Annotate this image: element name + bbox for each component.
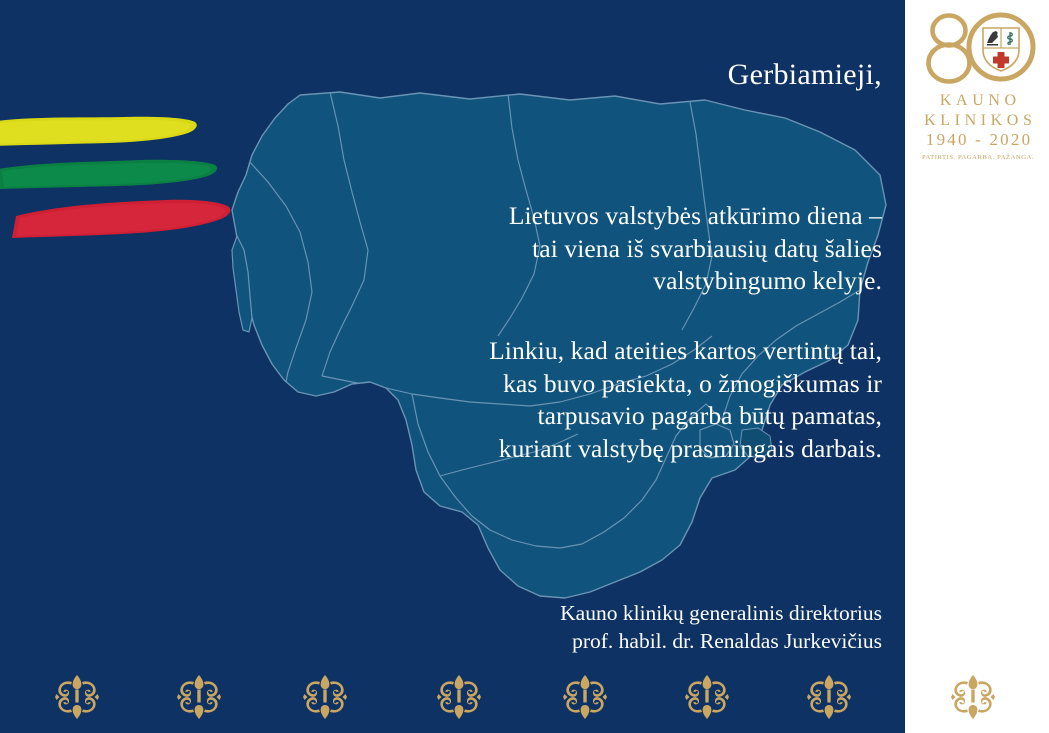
paragraph-1-line-3: valstybingumo kelyje. <box>242 265 882 298</box>
signature-title: Kauno klinikų generalinis direktorius <box>242 600 882 628</box>
paragraph-2-line-2: kas buvo pasiekta, o žmogiškumas ir <box>242 368 882 401</box>
yellow-stroke <box>0 117 197 146</box>
ornament-motif <box>684 674 730 720</box>
paragraph-2-line-1: Linkiu, kad ateities kartos vertintų tai… <box>242 335 882 368</box>
ornament-motif <box>436 674 482 720</box>
poster-canvas: Gerbiamieji, Lietuvos valstybės atkūrimo… <box>0 0 1049 733</box>
ornament-band <box>0 660 1049 733</box>
ornament-motif <box>302 674 348 720</box>
ornament-motif <box>176 674 222 720</box>
lithuanian-flag-brushstrokes <box>0 112 240 252</box>
signature-block: Kauno klinikų generalinis direktorius pr… <box>242 600 882 656</box>
anniversary-80-icon <box>919 8 1037 86</box>
ornament-motif <box>54 674 100 720</box>
logo-line-years: 1940 - 2020 <box>919 130 1037 151</box>
logo-line-kauno: KAUNO <box>919 91 1037 111</box>
greeting-text: Gerbiamieji, <box>728 58 882 92</box>
message-body: Lietuvos valstybės atkūrimo diena – tai … <box>242 200 882 465</box>
paragraph-1-line-1: Lietuvos valstybės atkūrimo diena – <box>242 200 882 233</box>
kauno-klinikos-logo: KAUNO KLINIKOS 1940 - 2020 PATIRTIS. PAG… <box>919 8 1037 161</box>
logo-line-klinikos: KLINIKOS <box>919 111 1037 131</box>
paragraph-2-line-4: kuriant valstybę prasmingais darbais. <box>242 433 882 466</box>
paragraph-1: Lietuvos valstybės atkūrimo diena – tai … <box>242 200 882 298</box>
green-stroke <box>0 160 217 189</box>
signature-name: prof. habil. dr. Renaldas Jurkevičius <box>242 628 882 656</box>
ornament-motif <box>950 674 996 720</box>
logo-tagline: PATIRTIS. PAGARBA. PAŽANGA. <box>919 154 1037 161</box>
ornament-motif <box>806 674 852 720</box>
ornament-motif <box>562 674 608 720</box>
red-stroke <box>12 200 230 238</box>
paragraph-2: Linkiu, kad ateities kartos vertintų tai… <box>242 335 882 466</box>
paragraph-2-line-3: tarpusavio pagarba būtų pamatas, <box>242 400 882 433</box>
paragraph-1-line-2: tai viena iš svarbiausių datų šalies <box>242 233 882 266</box>
